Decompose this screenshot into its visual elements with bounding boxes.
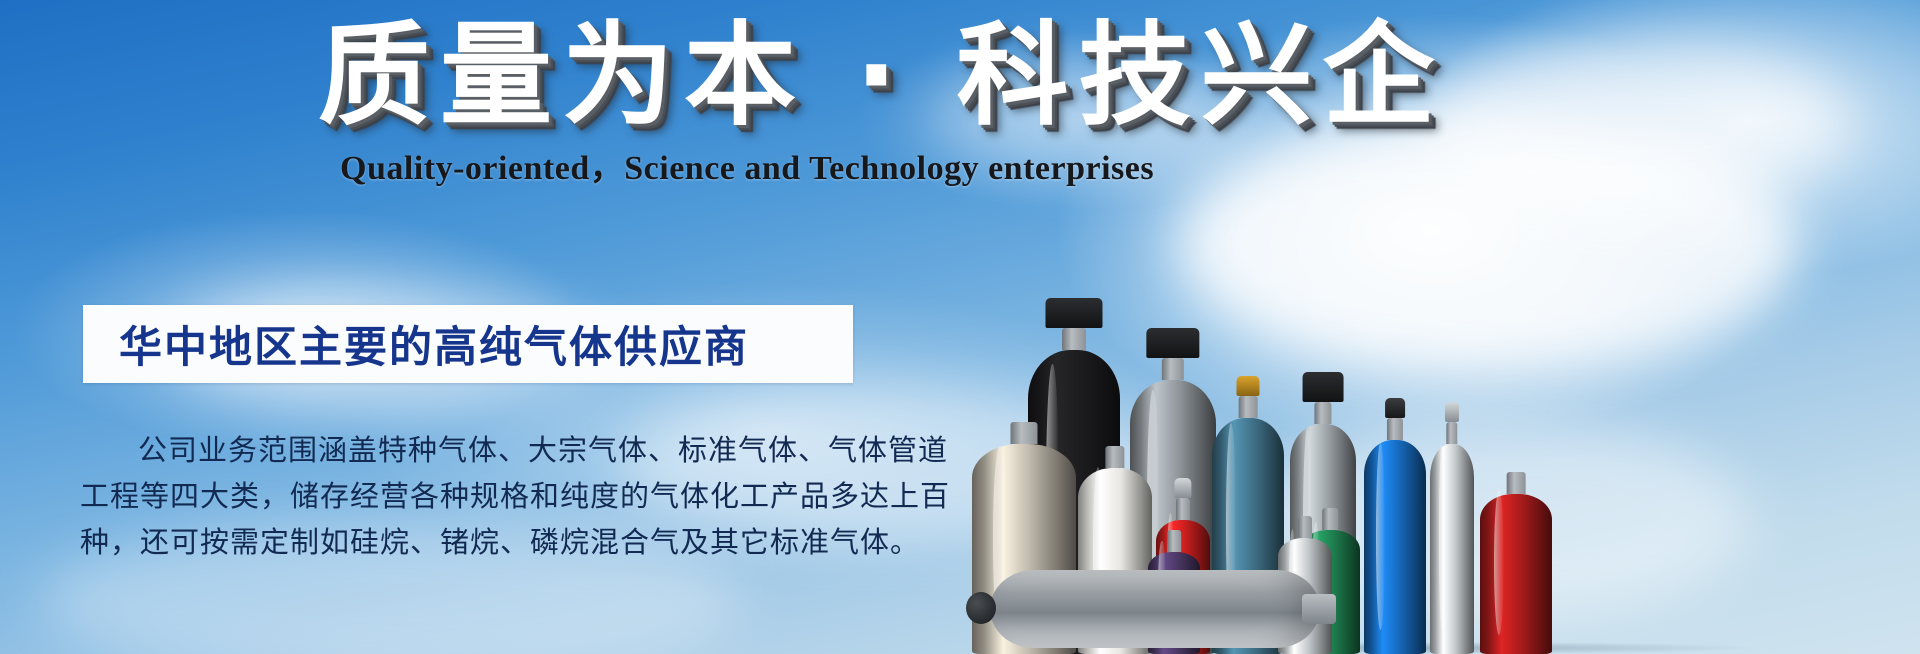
cylinder-valve-cap [1174,478,1191,498]
banner-headline: 质量为本 · 科技兴企 [318,18,1268,136]
cylinder-blue-bright [1364,414,1426,654]
cylinder-neck [1167,530,1181,552]
description-line: 公司业务范围涵盖特种气体、大宗气体、标准气体、气体管道 [80,428,870,474]
hero-banner: 质量为本 · 科技兴企 Quality-oriented，Science and… [0,0,1920,654]
cylinder-neck [1446,422,1457,444]
slogan-text: 华中地区主要的高纯气体供应商 [83,313,749,375]
cylinder-neck [1062,328,1086,350]
cylinder-highlight [1376,443,1385,630]
cylinder-valve-cap [1385,398,1405,418]
cylinder-valve-cap [1236,376,1259,396]
description-line: 工程等四大类，储存经营各种规格和纯度的气体化工产品多达上百 [80,474,870,520]
cylinder-neck [1105,446,1124,468]
cylinder-body [1430,444,1474,654]
cylinder-valve-cap [1045,298,1102,328]
tank-valve-knob [966,592,996,624]
cylinder-valve-cap [1445,402,1459,422]
cylinder-valve-cap [1303,372,1344,402]
cylinder-body [1364,440,1426,654]
cylinder-neck [1239,396,1258,418]
gas-cylinder-group [960,150,1920,654]
cylinder-highlight [1439,446,1445,630]
tank-outlet [1302,594,1336,624]
cylinder-valve-cap [1146,328,1199,358]
cylinder-neck [1162,358,1184,380]
cylinder-neck [1507,472,1526,494]
cylinder-neck [1387,418,1403,440]
cylinder-body [1480,494,1552,654]
cylinder-maroon-red [1480,468,1552,654]
cylinder-neck [1176,498,1190,520]
cylinder-neck [1314,402,1331,424]
description-line: 种，还可按需定制如硅烷、锗烷、磷烷混合气及其它标准气体。 [80,520,870,566]
cylinder-silver-thin [1430,418,1474,654]
cylinder-horizontal-tank [990,570,1320,648]
slogan-box: 华中地区主要的高纯气体供应商 [83,305,853,383]
cylinder-neck [1298,516,1312,538]
cylinder-neck [1010,422,1037,444]
banner-description: 公司业务范围涵盖特种气体、大宗气体、标准气体、气体管道 工程等四大类，储存经营各… [80,428,870,566]
